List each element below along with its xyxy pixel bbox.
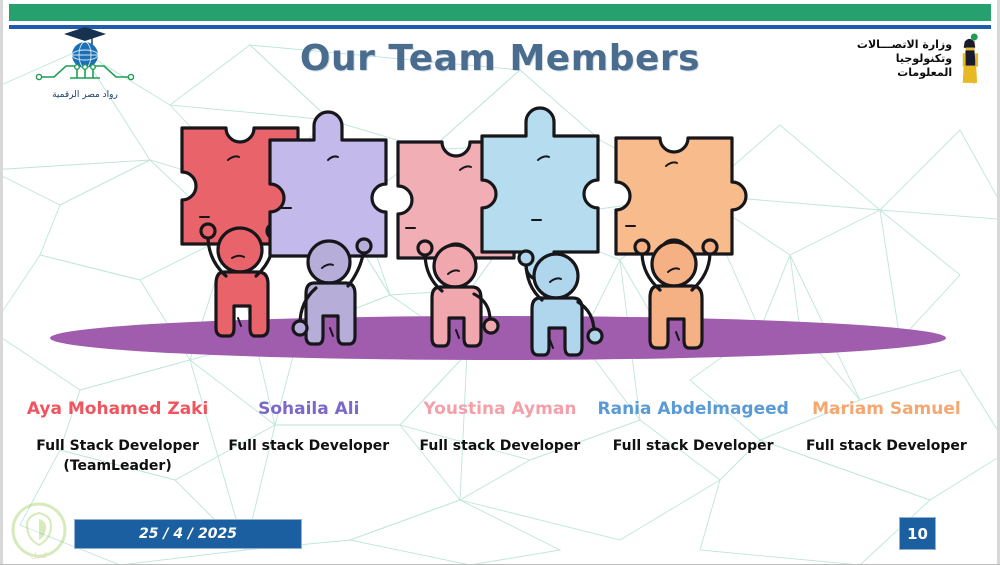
presentation-slide: رواد مصر الرقمية وزارة الاتصـــالات وتكن… bbox=[0, 0, 1000, 565]
member-role: Full stack Developer bbox=[598, 436, 789, 456]
logo-arabic-label: رواد مصر الرقمية bbox=[30, 90, 140, 100]
team-member: Rania Abdelmageed Full stack Developer bbox=[596, 400, 791, 476]
member-role: Full stack Developer bbox=[793, 436, 980, 456]
team-member: Sohaila Ali Full stack Developer bbox=[213, 400, 404, 476]
member-role-sub: (TeamLeader) bbox=[24, 456, 211, 476]
member-name: Rania Abdelmageed bbox=[598, 400, 789, 419]
member-name: Mariam Samuel bbox=[793, 400, 980, 419]
team-member: Mariam Samuel Full stack Developer bbox=[791, 400, 982, 476]
member-role-main: Full Stack Developer bbox=[36, 438, 199, 454]
page-number-badge: 10 bbox=[899, 517, 936, 550]
member-role-main: Full stack Developer bbox=[420, 438, 581, 454]
date-badge: 25 / 4 / 2025 bbox=[74, 519, 302, 549]
figure-purple bbox=[270, 112, 386, 344]
kafeel-watermark: كفيل bbox=[4, 500, 74, 562]
slide-title: Our Team Members bbox=[0, 38, 1000, 79]
member-role: Full stack Developer bbox=[215, 436, 402, 456]
slide-left-border bbox=[0, 0, 3, 564]
member-role: Full stack Developer bbox=[406, 436, 593, 456]
top-green-bar bbox=[9, 4, 991, 21]
team-member: Aya Mohamed Zaki Full Stack Developer (T… bbox=[22, 400, 213, 476]
figure-orange bbox=[616, 138, 746, 348]
team-member: Youstina Ayman Full stack Developer bbox=[404, 400, 595, 476]
member-name: Youstina Ayman bbox=[406, 400, 593, 419]
team-members-list: Aya Mohamed Zaki Full Stack Developer (T… bbox=[22, 400, 982, 476]
member-role-main: Full stack Developer bbox=[806, 438, 967, 454]
member-role-main: Full stack Developer bbox=[613, 438, 774, 454]
member-name: Aya Mohamed Zaki bbox=[24, 400, 211, 419]
team-puzzle-illustration bbox=[50, 100, 950, 365]
member-role: Full Stack Developer (TeamLeader) bbox=[24, 436, 211, 477]
member-role-main: Full stack Developer bbox=[228, 438, 389, 454]
member-name: Sohaila Ali bbox=[215, 400, 402, 419]
watermark-label: كفيل bbox=[4, 551, 74, 560]
